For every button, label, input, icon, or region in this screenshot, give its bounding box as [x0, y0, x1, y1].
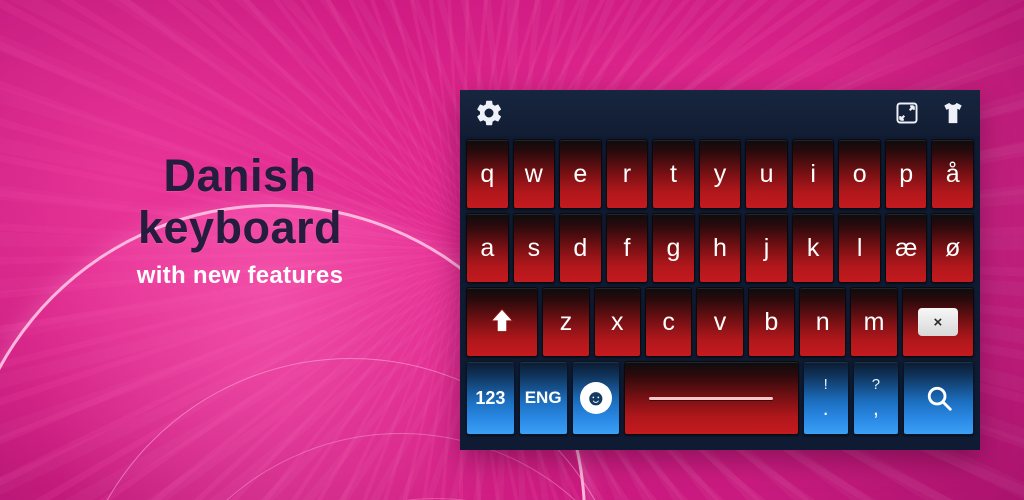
key-m[interactable]: m — [850, 287, 897, 357]
headline-line-2: keyboard — [30, 202, 450, 254]
key-n[interactable]: n — [799, 287, 846, 357]
gear-icon[interactable] — [474, 98, 504, 128]
comma-key-top-label: ? — [872, 377, 880, 392]
keyboard-row-3: z x c v b n m × — [463, 287, 977, 357]
period-exclamation-key[interactable]: ! . — [803, 361, 849, 435]
shift-key[interactable] — [466, 287, 538, 357]
emoji-icon: ☻ — [580, 382, 612, 414]
emoji-key[interactable]: ☻ — [572, 361, 621, 435]
keyboard-row-4: 123 ENG ☻ ! . ? , — [463, 361, 977, 435]
key-b[interactable]: b — [748, 287, 795, 357]
key-g[interactable]: g — [652, 213, 695, 283]
keyboard-row-1: q w e r t y u i o p å — [463, 139, 977, 209]
key-k[interactable]: k — [792, 213, 835, 283]
key-v[interactable]: v — [696, 287, 743, 357]
key-c[interactable]: c — [645, 287, 692, 357]
key-ae[interactable]: æ — [885, 213, 928, 283]
key-u[interactable]: u — [745, 139, 788, 209]
key-a[interactable]: a — [466, 213, 509, 283]
key-aring[interactable]: å — [931, 139, 974, 209]
key-j[interactable]: j — [745, 213, 788, 283]
key-q[interactable]: q — [466, 139, 509, 209]
key-x[interactable]: x — [594, 287, 641, 357]
key-s[interactable]: s — [513, 213, 556, 283]
language-key[interactable]: ENG — [519, 361, 568, 435]
comma-key-bottom-label: , — [873, 398, 879, 420]
keyboard-toolbar — [460, 90, 980, 136]
search-icon — [924, 383, 954, 413]
shift-icon — [489, 307, 515, 337]
space-key[interactable] — [624, 361, 798, 435]
key-i[interactable]: i — [792, 139, 835, 209]
key-l[interactable]: l — [838, 213, 881, 283]
key-oslash[interactable]: ø — [931, 213, 974, 283]
shirt-icon[interactable] — [940, 100, 966, 126]
search-key[interactable] — [903, 361, 974, 435]
key-e[interactable]: e — [559, 139, 602, 209]
key-r[interactable]: r — [606, 139, 649, 209]
keyboard-panel: q w e r t y u i o p å a s d f g h j — [460, 90, 980, 450]
key-z[interactable]: z — [542, 287, 589, 357]
headline-subtitle: with new features — [30, 262, 450, 290]
key-p[interactable]: p — [885, 139, 928, 209]
period-key-bottom-label: . — [823, 398, 829, 420]
period-key-top-label: ! — [824, 377, 828, 392]
keyboard-rows: q w e r t y u i o p å a s d f g h j — [460, 136, 980, 442]
key-d[interactable]: d — [559, 213, 602, 283]
key-o[interactable]: o — [838, 139, 881, 209]
key-f[interactable]: f — [606, 213, 649, 283]
space-icon — [649, 397, 773, 400]
keyboard-row-2: a s d f g h j k l æ ø — [463, 213, 977, 283]
key-w[interactable]: w — [513, 139, 556, 209]
promo-banner: Danish keyboard with new features — [0, 0, 1024, 500]
numeric-mode-key[interactable]: 123 — [466, 361, 515, 435]
resize-icon[interactable] — [894, 100, 920, 126]
backspace-icon: × — [918, 308, 958, 336]
backspace-key[interactable]: × — [902, 287, 974, 357]
key-h[interactable]: h — [699, 213, 742, 283]
key-y[interactable]: y — [699, 139, 742, 209]
headline-line-1: Danish — [30, 150, 450, 202]
comma-question-key[interactable]: ? , — [853, 361, 899, 435]
promo-headline: Danish keyboard with new features — [30, 150, 450, 290]
key-t[interactable]: t — [652, 139, 695, 209]
